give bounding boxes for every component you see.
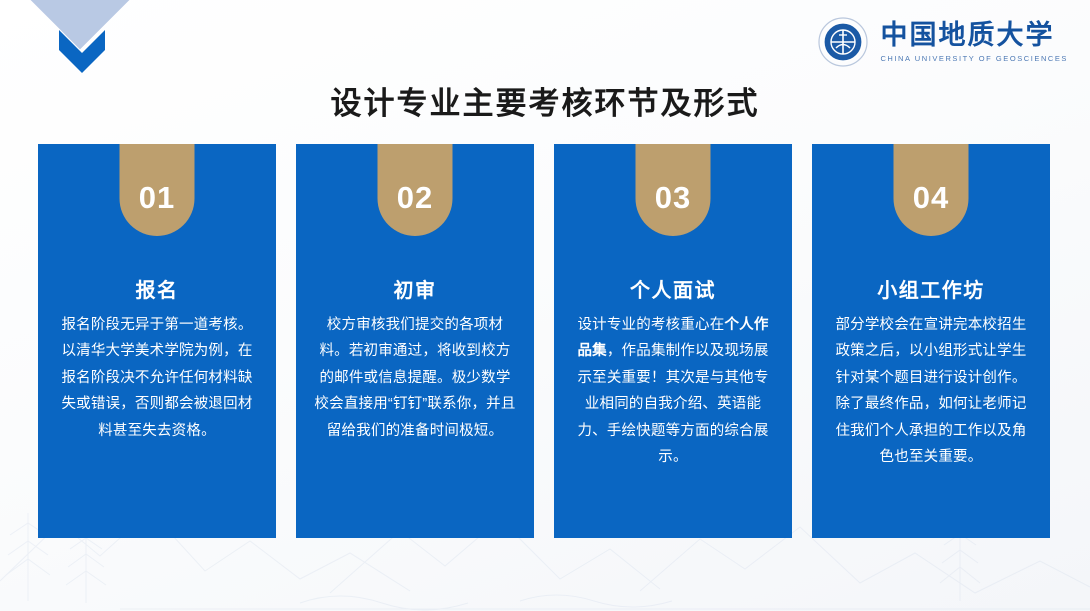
step-title: 报名 xyxy=(38,274,276,303)
step-body: 报名阶段无异于第一道考核。以清华大学美术学院为例，在报名阶段决不允许任何材料缺失… xyxy=(56,312,258,444)
step-body-pre: 设计专业的考核重心在 xyxy=(577,317,724,333)
logo-name-cn: 中国地质大学 xyxy=(880,21,1068,50)
steps-row: 01 报名 报名阶段无异于第一道考核。以清华大学美术学院为例，在报名阶段决不允许… xyxy=(38,144,1050,538)
step-card-3[interactable]: 03 个人面试 设计专业的考核重心在个人作品集，作品集制作以及现场展示至关重要！… xyxy=(554,144,792,538)
step-badge-1: 01 xyxy=(120,144,195,236)
step-number: 03 xyxy=(655,180,691,216)
university-seal-icon xyxy=(818,17,868,67)
step-badge-3: 03 xyxy=(636,144,711,236)
slide-canvas: 中国地质大学 CHINA UNIVERSITY OF GEOSCIENCES 设… xyxy=(0,0,1090,611)
logo-name-en: CHINA UNIVERSITY OF GEOSCIENCES xyxy=(880,54,1068,63)
step-body: 设计专业的考核重心在个人作品集，作品集制作以及现场展示至关重要！其次是与其他专业… xyxy=(572,312,774,470)
step-number: 01 xyxy=(139,180,175,216)
step-badge-2: 02 xyxy=(378,144,453,236)
step-title: 小组工作坊 xyxy=(812,274,1050,303)
chevron-down-icon xyxy=(55,22,109,76)
step-body: 校方审核我们提交的各项材料。若初审通过，将收到校方的邮件或信息提醒。极少数学校会… xyxy=(314,312,516,444)
step-body: 部分学校会在宣讲完本校招生政策之后，以小组形式让学生针对某个题目进行设计创作。除… xyxy=(830,312,1032,470)
step-body-post: ，作品集制作以及现场展示至关重要！其次是与其他专业相同的自我介绍、英语能力、手绘… xyxy=(577,343,768,465)
step-card-4[interactable]: 04 小组工作坊 部分学校会在宣讲完本校招生政策之后，以小组形式让学生针对某个题… xyxy=(812,144,1050,538)
step-number: 04 xyxy=(913,180,949,216)
step-body-pre: 报名阶段无异于第一道考核。以清华大学美术学院为例，在报名阶段决不允许任何材料缺失… xyxy=(61,317,252,439)
step-title: 个人面试 xyxy=(554,274,792,303)
step-body-pre: 部分学校会在宣讲完本校招生政策之后，以小组形式让学生针对某个题目进行设计创作。除… xyxy=(835,317,1026,465)
step-card-2[interactable]: 02 初审 校方审核我们提交的各项材料。若初审通过，将收到校方的邮件或信息提醒。… xyxy=(296,144,534,538)
page-title: 设计专业主要考核环节及形式 xyxy=(0,78,1090,123)
university-logo: 中国地质大学 CHINA UNIVERSITY OF GEOSCIENCES xyxy=(818,16,1068,68)
step-badge-4: 04 xyxy=(894,144,969,236)
step-card-1[interactable]: 01 报名 报名阶段无异于第一道考核。以清华大学美术学院为例，在报名阶段决不允许… xyxy=(38,144,276,538)
step-body-pre: 校方审核我们提交的各项材料。若初审通过，将收到校方的邮件或信息提醒。极少数学校会… xyxy=(314,317,515,439)
step-number: 02 xyxy=(397,180,433,216)
step-title: 初审 xyxy=(296,274,534,303)
